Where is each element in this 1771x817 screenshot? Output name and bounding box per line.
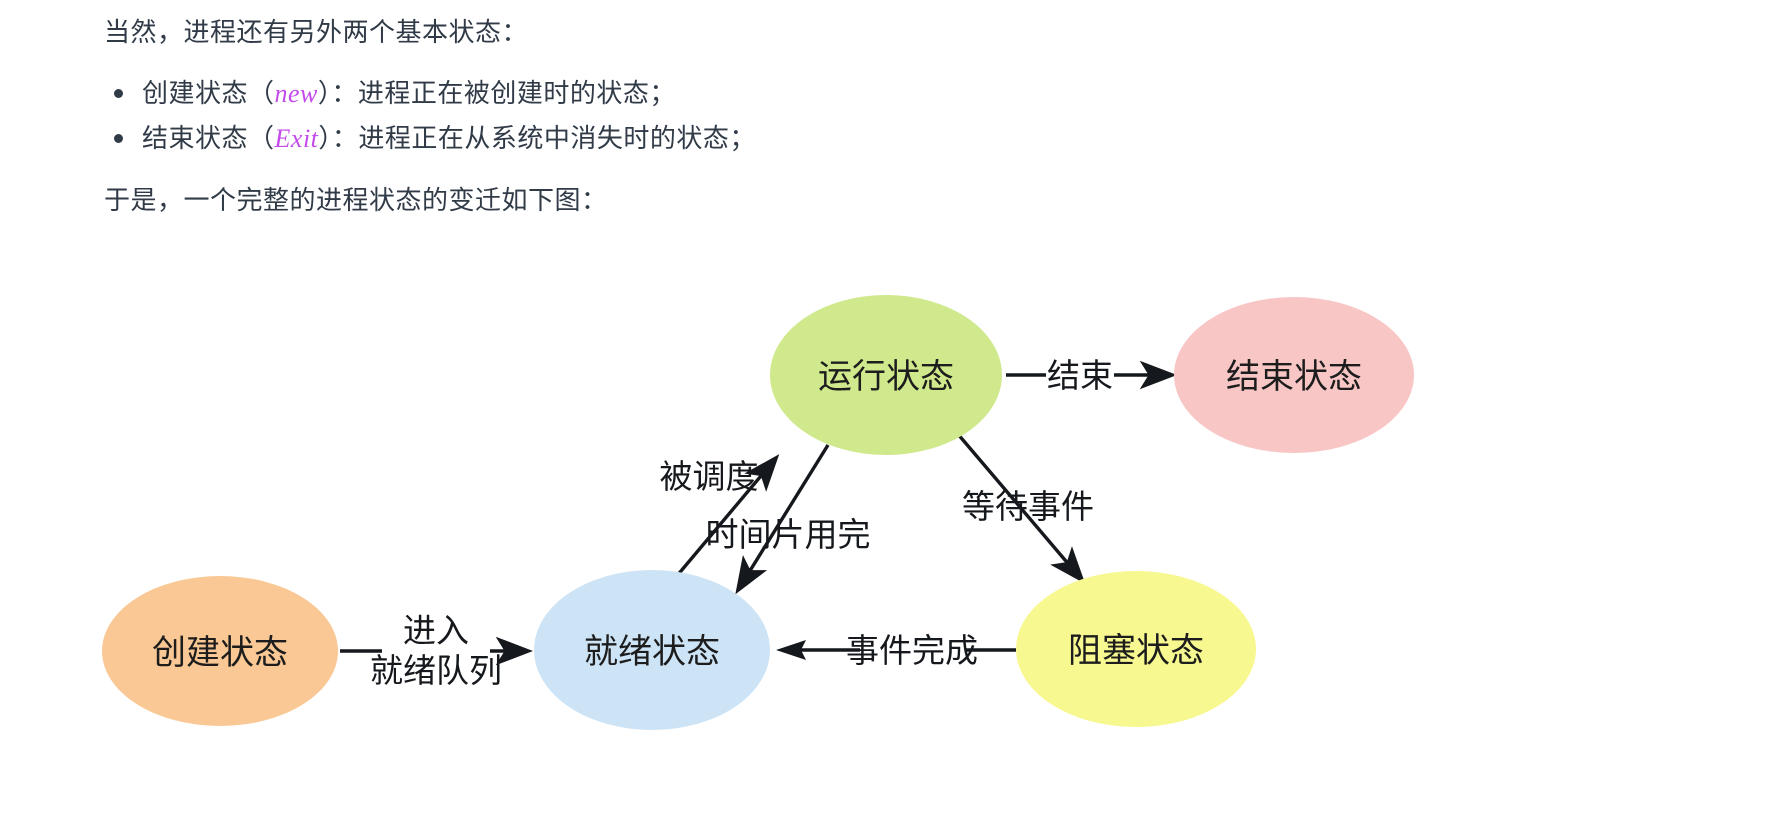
bullet-keyword-new: new	[275, 79, 318, 108]
bullet-suffix-exit: ）：进程正在从系统中消失时的状态；	[318, 123, 756, 153]
node-label-blocked: 阻塞状态	[1068, 632, 1204, 670]
list-item: 结束状态（Exit）：进程正在从系统中消失时的状态；	[104, 119, 1504, 158]
bullet-prefix-new: 创建状态（	[142, 78, 275, 108]
bullet-dot-icon	[114, 134, 123, 143]
node-label-ready: 就绪状态	[584, 633, 720, 671]
edge-label-running-to-blocked: 等待事件	[962, 488, 1094, 525]
bullet-suffix-new: ）：进程正在被创建时的状态；	[318, 78, 676, 108]
node-label-new: 创建状态	[152, 634, 288, 672]
edge-label-new-to-ready-line1: 进入	[403, 612, 469, 649]
edge-label-blocked-to-ready: 事件完成	[846, 632, 978, 669]
edge-label-new-to-ready-line2: 就绪队列	[370, 652, 502, 689]
bullet-prefix-exit: 结束状态（	[142, 123, 275, 153]
edge-new-to-ready: 进入 就绪队列	[340, 612, 528, 689]
node-blocked-state[interactable]: 阻塞状态	[1016, 571, 1256, 727]
list-item: 创建状态（new）：进程正在被创建时的状态；	[104, 74, 1504, 113]
edge-label-running-to-exit: 结束	[1047, 357, 1113, 394]
edge-label-ready-to-running: 被调度	[660, 458, 759, 495]
node-label-exit: 结束状态	[1226, 358, 1362, 396]
node-new-state[interactable]: 创建状态	[102, 576, 338, 726]
node-running-state[interactable]: 运行状态	[770, 295, 1002, 455]
node-label-running: 运行状态	[818, 358, 954, 396]
edge-running-to-exit: 结束	[1006, 357, 1172, 394]
page-root: 当然，进程还有另外两个基本状态： 创建状态（new）：进程正在被创建时的状态； …	[0, 0, 1771, 817]
node-exit-state[interactable]: 结束状态	[1174, 297, 1414, 453]
lead-paragraph: 当然，进程还有另外两个基本状态：	[104, 14, 1504, 52]
node-ready-state[interactable]: 就绪状态	[534, 570, 770, 730]
bullet-keyword-exit: Exit	[275, 124, 319, 153]
edge-label-running-to-ready: 时间片用完	[706, 516, 871, 553]
article-text: 当然，进程还有另外两个基本状态： 创建状态（new）：进程正在被创建时的状态； …	[104, 14, 1504, 219]
bullet-dot-icon	[114, 89, 123, 98]
edge-running-to-blocked: 等待事件	[957, 433, 1094, 580]
edge-blocked-to-ready: 事件完成	[776, 632, 1016, 669]
process-state-diagram: 进入 就绪队列 被调度 时间片用完 等待事件	[0, 278, 1771, 817]
closing-paragraph: 于是，一个完整的进程状态的变迁如下图：	[104, 182, 1504, 220]
state-bullet-list: 创建状态（new）：进程正在被创建时的状态； 结束状态（Exit）：进程正在从系…	[104, 74, 1504, 158]
